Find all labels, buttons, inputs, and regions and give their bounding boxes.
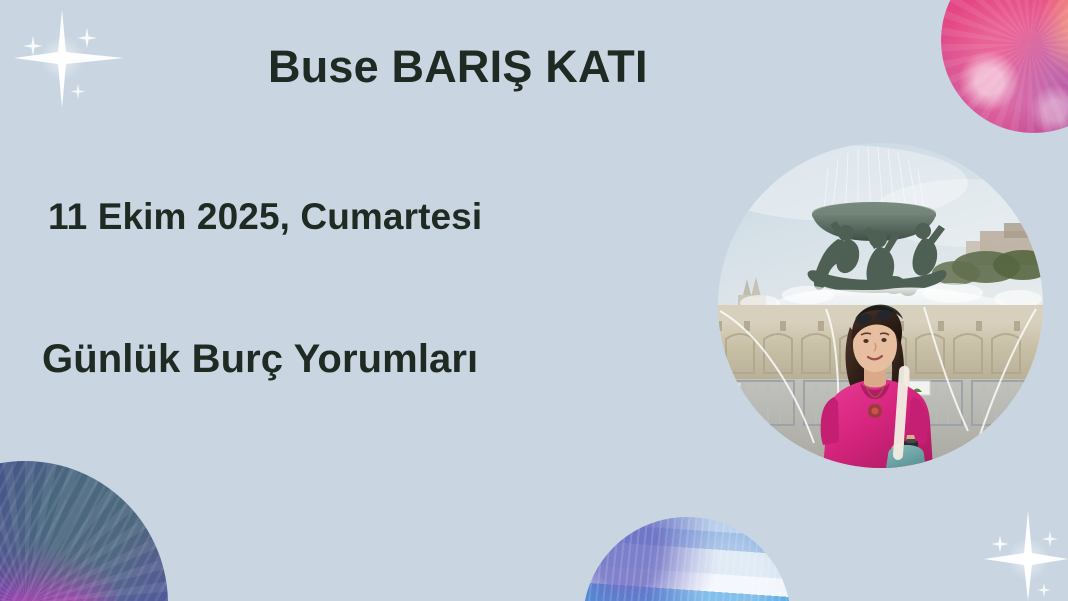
watercolor-circle-top-right-decoration: [941, 0, 1068, 133]
slide-canvas: Buse BARIŞ KATI 11 Ekim 2025, Cumartesi …: [0, 0, 1068, 601]
profile-photo-illustration: [718, 143, 1043, 468]
date-label: 11 Ekim 2025, Cumartesi: [48, 196, 482, 238]
profile-photo: [718, 143, 1043, 468]
watercolor-circle-bottom-center-decoration: [583, 517, 791, 601]
page-title: Buse BARIŞ KATI: [268, 41, 648, 93]
sparkle-icon-top-left: [12, 6, 132, 116]
sparkle-icon-bottom-right: [944, 503, 1068, 601]
subtitle-label: Günlük Burç Yorumları: [42, 337, 478, 382]
watercolor-circle-bottom-left-decoration: [0, 461, 168, 601]
